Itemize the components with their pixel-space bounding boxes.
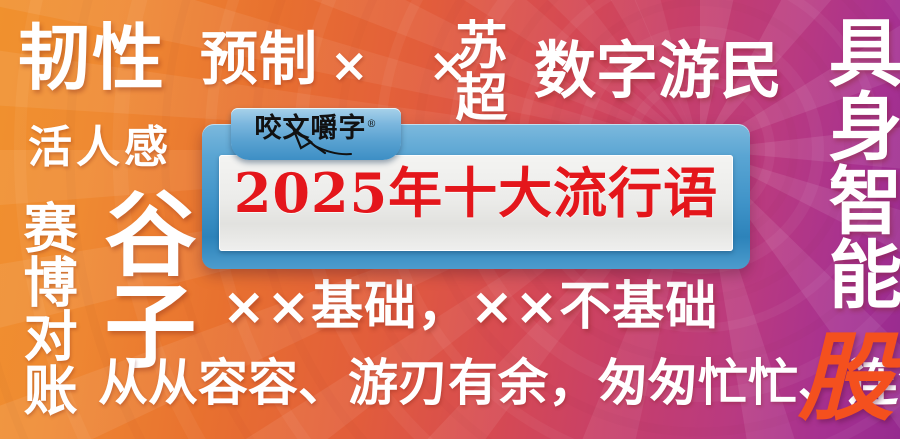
buzzword-yuzhi: 预制 xyxy=(200,30,318,88)
publisher-logo-text: 咬文嚼字® xyxy=(231,115,401,142)
page-title: 2025年十大流行语 xyxy=(219,166,733,220)
buzzword-shuziyoumin: 数字游民 xyxy=(534,40,782,102)
buzzword-guzi: 谷子 xyxy=(95,186,189,370)
buzzword-congcongrongrong: 从从容容、游刃有余，匆匆忙忙、连滚 xyxy=(98,358,900,408)
banner-inner-panel: 2025年十大流行语 xyxy=(219,155,733,251)
logo-name: 咬文嚼字 xyxy=(255,113,367,144)
buzzword-renxing: 韧性 xyxy=(18,22,166,94)
buzzword-gu: 股 xyxy=(798,330,894,426)
buzzword-saibo-duizhang: 赛博对账 xyxy=(18,200,73,416)
registered-mark: ® xyxy=(367,119,378,130)
buzzword-huorengan: 活人感 xyxy=(28,126,172,170)
buzzword-jushenzhineng: 具身智能 xyxy=(821,14,896,310)
buzzword-suchao: 苏超 xyxy=(450,18,503,122)
buzzword-xx-jichu: ××基础，××不基础 xyxy=(222,281,718,333)
title-banner: 2025年十大流行语 咬文嚼字® xyxy=(202,124,750,269)
poster-canvas: 韧性 预制 × × 苏超 数字游民 具身智能 活人感 赛博对账 谷子 ××基础，… xyxy=(0,0,900,439)
publisher-logo-tab: 咬文嚼字® xyxy=(231,108,401,160)
